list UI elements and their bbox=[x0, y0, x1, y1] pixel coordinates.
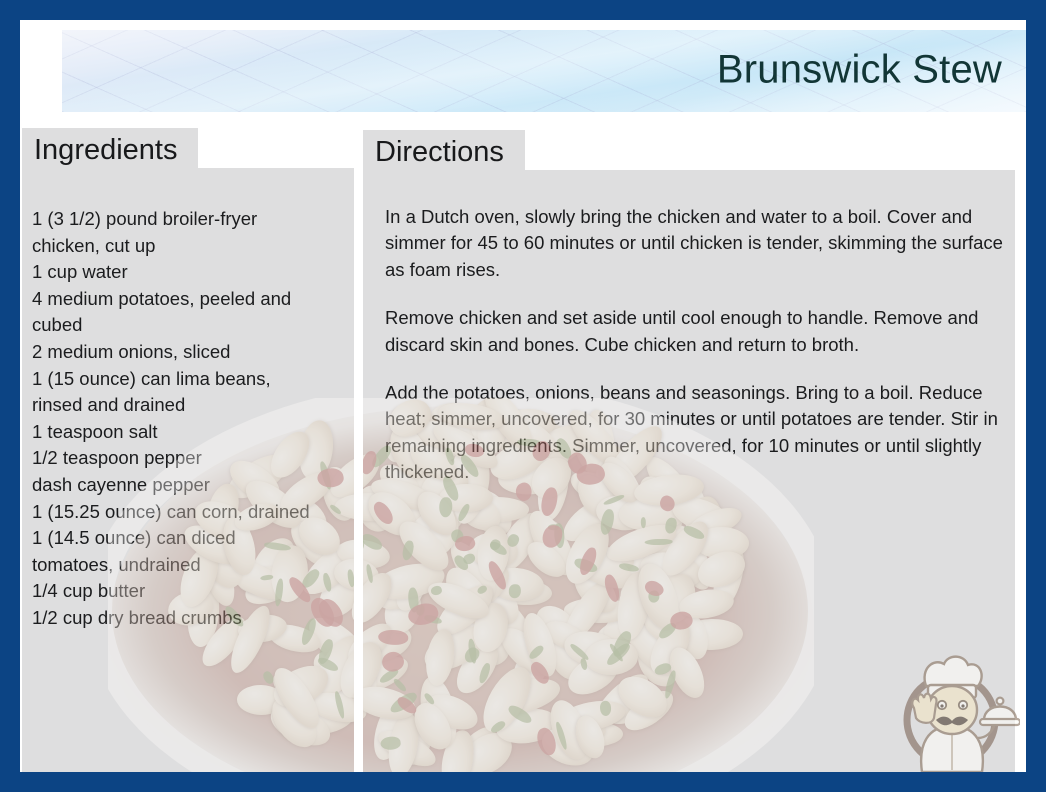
ingredient-line: 1/2 cup dry bread crumbs bbox=[32, 605, 354, 632]
ingredient-line: rinsed and drained bbox=[32, 392, 354, 419]
ingredient-line: 4 medium potatoes, peeled and bbox=[32, 286, 354, 313]
title-banner: Brunswick Stew bbox=[62, 30, 1026, 112]
ingredients-heading: Ingredients bbox=[34, 134, 178, 167]
ingredients-tab: Ingredients bbox=[22, 128, 198, 172]
direction-step: Add the potatoes, onions, beans and seas… bbox=[385, 380, 1011, 486]
ingredient-line: 1/2 teaspoon pepper bbox=[32, 445, 354, 472]
ingredient-line: 1/4 cup butter bbox=[32, 578, 354, 605]
ingredient-line: 1 (15.25 ounce) can corn, drained bbox=[32, 499, 354, 526]
ingredients-tab-notch bbox=[198, 128, 354, 168]
ingredient-line: cubed bbox=[32, 312, 354, 339]
ingredient-line: 1 teaspoon salt bbox=[32, 419, 354, 446]
directions-steps: In a Dutch oven, slowly bring the chicke… bbox=[385, 204, 1011, 486]
directions-tab-notch bbox=[525, 130, 1015, 170]
direction-step: Remove chicken and set aside until cool … bbox=[385, 305, 1011, 358]
direction-step: In a Dutch oven, slowly bring the chicke… bbox=[385, 204, 1011, 283]
ingredient-line: chicken, cut up bbox=[32, 233, 354, 260]
ingredients-list: 1 (3 1/2) pound broiler-fryerchicken, cu… bbox=[32, 206, 354, 632]
ingredient-line: 1 (15 ounce) can lima beans, bbox=[32, 366, 354, 393]
ingredient-line: 2 medium onions, sliced bbox=[32, 339, 354, 366]
ingredient-line: 1 (14.5 ounce) can diced bbox=[32, 525, 354, 552]
ingredient-line: dash cayenne pepper bbox=[32, 472, 354, 499]
panel-divider bbox=[354, 128, 363, 790]
page-title: Brunswick Stew bbox=[717, 48, 1002, 93]
ingredients-panel: 1 (3 1/2) pound broiler-fryerchicken, cu… bbox=[22, 168, 354, 788]
recipe-card: Brunswick Stew 1 (3 1/2) pound broiler-f… bbox=[0, 0, 1046, 792]
directions-tab: Directions bbox=[363, 130, 525, 174]
directions-panel: In a Dutch oven, slowly bring the chicke… bbox=[363, 170, 1015, 788]
ingredient-line: 1 cup water bbox=[32, 259, 354, 286]
ingredient-line: tomatoes, undrained bbox=[32, 552, 354, 579]
ingredient-line: 1 (3 1/2) pound broiler-fryer bbox=[32, 206, 354, 233]
directions-heading: Directions bbox=[375, 136, 504, 169]
